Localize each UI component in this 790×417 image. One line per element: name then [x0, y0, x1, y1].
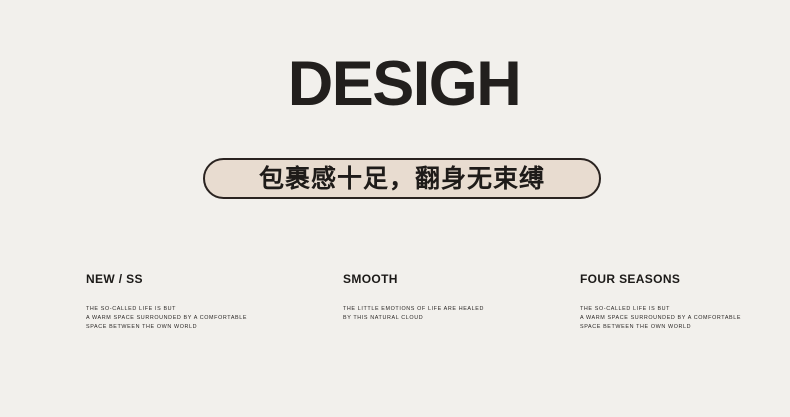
feature-column-title: FOUR SEASONS — [580, 272, 741, 286]
feature-column-body: THE SO-CALLED LIFE IS BUT A WARM SPACE S… — [86, 305, 247, 332]
feature-column: SMOOTH THE LITTLE EMOTIONS OF LIFE ARE H… — [343, 272, 484, 323]
feature-column-body: THE LITTLE EMOTIONS OF LIFE ARE HEALED B… — [343, 305, 484, 323]
tagline-text: 包裹感十足，翻身无束缚 — [259, 166, 545, 191]
feature-column-body: THE SO-CALLED LIFE IS BUT A WARM SPACE S… — [580, 305, 741, 332]
feature-column-line: THE SO-CALLED LIFE IS BUT — [86, 305, 247, 314]
tagline-banner: 包裹感十足，翻身无束缚 — [203, 158, 601, 199]
poster-canvas: DESIGH 包裹感十足，翻身无束缚 NEW / SS THE SO-CALLE… — [0, 0, 790, 417]
feature-column-line: THE LITTLE EMOTIONS OF LIFE ARE HEALED — [343, 305, 484, 314]
feature-column: FOUR SEASONS THE SO-CALLED LIFE IS BUT A… — [580, 272, 741, 332]
feature-column-title: SMOOTH — [343, 272, 484, 286]
feature-columns: NEW / SS THE SO-CALLED LIFE IS BUT A WAR… — [0, 272, 790, 352]
feature-column-line: SPACE BETWEEN THE OWN WORLD — [580, 323, 741, 332]
feature-column-title: NEW / SS — [86, 272, 247, 286]
page-title: DESIGH — [9, 52, 790, 116]
feature-column-line: BY THIS NATURAL CLOUD — [343, 314, 484, 323]
feature-column-line: THE SO-CALLED LIFE IS BUT — [580, 305, 741, 314]
feature-column-line: A WARM SPACE SURROUNDED BY A COMFORTABLE — [580, 314, 741, 323]
feature-column-line: A WARM SPACE SURROUNDED BY A COMFORTABLE — [86, 314, 247, 323]
feature-column: NEW / SS THE SO-CALLED LIFE IS BUT A WAR… — [86, 272, 247, 332]
feature-column-line: SPACE BETWEEN THE OWN WORLD — [86, 323, 247, 332]
